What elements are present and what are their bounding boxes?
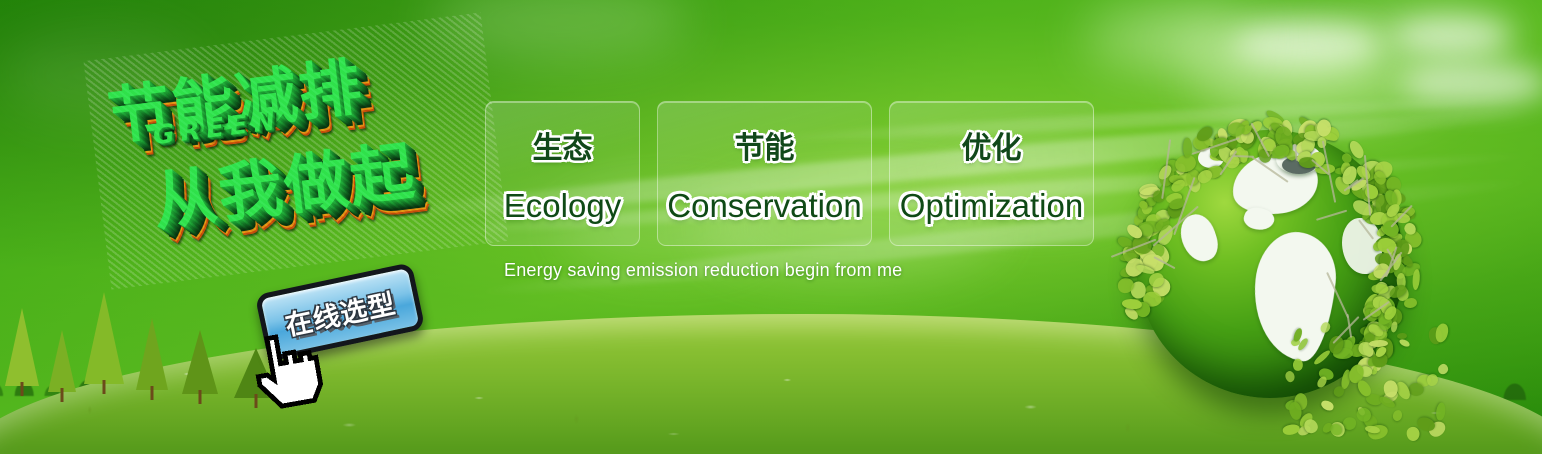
leaf-icon <box>1371 158 1396 183</box>
leaf-icon <box>1119 252 1137 263</box>
leaf-icon <box>1320 398 1336 412</box>
leaf-icon <box>1316 119 1332 137</box>
feature-card-cn-label: 生态 <box>533 123 593 167</box>
leaf-icon <box>1437 362 1450 375</box>
leaf-icon <box>1398 338 1411 349</box>
leaf-icon <box>1195 124 1215 144</box>
cloud-icon <box>1340 6 1520 62</box>
online-selection-label: 在线选型 <box>281 281 399 342</box>
leaf-icon <box>1396 204 1416 222</box>
leaf-icon <box>1354 406 1372 424</box>
leaf-icon <box>1297 410 1315 429</box>
leaf-icon <box>1383 380 1398 398</box>
leaf-icon <box>1358 365 1373 379</box>
leaf-icon <box>1385 176 1403 194</box>
feature-card-cn-label: 优化 <box>962 123 1022 167</box>
leaf-icon <box>1371 352 1389 369</box>
leaf-icon <box>1374 345 1388 359</box>
leaf-icon <box>1397 333 1407 339</box>
leaf-icon <box>1117 278 1134 294</box>
banner-subtitle: Energy saving emission reduction begin f… <box>504 260 902 281</box>
leaf-icon <box>1408 381 1426 397</box>
leaf-icon <box>1378 394 1397 410</box>
feature-card-cn-label: 节能 <box>735 123 795 167</box>
leaf-icon <box>1297 115 1317 134</box>
leaf-icon <box>1284 399 1299 411</box>
leaf-icon <box>1429 327 1443 344</box>
leaf-icon <box>1332 385 1346 399</box>
continent-shape <box>1198 148 1224 168</box>
cloud-icon <box>1232 22 1382 68</box>
continent-shape <box>1175 210 1222 266</box>
leaf-icon <box>1395 380 1413 402</box>
leaf-icon <box>1381 389 1400 405</box>
leaf-icon <box>1121 297 1142 309</box>
feature-card-en-label: Optimization <box>900 187 1083 225</box>
continent-shape <box>1248 228 1341 364</box>
leaf-icon <box>1341 415 1359 433</box>
leaf-icon <box>1395 193 1406 204</box>
leaf-icon <box>1401 227 1425 251</box>
continent-shape <box>1342 218 1382 274</box>
feature-card-optimization[interactable]: 优化 Optimization <box>889 101 1094 246</box>
leaf-icon <box>1402 221 1417 237</box>
cloud-icon <box>1198 52 1438 116</box>
leaf-icon <box>1391 189 1402 207</box>
eco-hero-banner: 节能减排 GREEN 从我做起 在线选型 生态 Ecology 节能 Conse… <box>0 0 1542 454</box>
leaf-icon <box>1116 235 1136 251</box>
leaf-icon <box>1119 265 1137 278</box>
leaf-icon <box>1357 406 1366 416</box>
cloud-icon <box>1400 62 1542 106</box>
leaf-icon <box>1417 375 1432 387</box>
leaf-icon <box>1365 392 1383 407</box>
leaf-icon <box>1411 269 1420 290</box>
leaf-icon <box>1365 355 1378 369</box>
leaf-icon <box>1288 401 1302 421</box>
leaf-icon <box>1123 305 1140 322</box>
leaf-icon <box>1371 357 1382 371</box>
leaf-icon <box>1433 322 1450 344</box>
feature-card-en-label: Ecology <box>504 187 621 225</box>
globe-sphere <box>1136 130 1404 398</box>
leaf-icon <box>1322 124 1342 143</box>
leaf-icon <box>1361 412 1379 431</box>
feature-card-list: 生态 Ecology 节能 Conservation 优化 Optimizati… <box>485 101 1094 246</box>
leaf-icon <box>1362 357 1380 377</box>
feature-card-en-label: Conservation <box>667 187 861 225</box>
leaf-icon <box>1265 108 1286 127</box>
headline-3d: 节能减排 GREEN 从我做起 <box>83 12 508 289</box>
cloud-icon <box>1392 18 1512 54</box>
leaf-icon <box>1399 205 1416 219</box>
leaf-icon <box>1293 393 1308 412</box>
leaf-icon <box>1379 337 1393 358</box>
leaf-icon <box>1415 415 1437 434</box>
leaf-icon <box>1121 245 1138 265</box>
cloud-icon <box>1170 14 1380 84</box>
leaf-icon <box>1390 321 1399 333</box>
leaf-icon <box>1356 378 1373 398</box>
leaf-icon <box>1404 298 1418 309</box>
feature-card-conservation[interactable]: 节能 Conservation <box>657 101 872 246</box>
green-leaf-globe-icon <box>1108 112 1438 432</box>
leaf-icon <box>1393 410 1403 422</box>
leaf-icon <box>1427 374 1438 386</box>
feature-card-ecology[interactable]: 生态 Ecology <box>485 101 640 246</box>
cloud-icon <box>1086 6 1256 70</box>
continent-shape <box>1282 156 1316 174</box>
